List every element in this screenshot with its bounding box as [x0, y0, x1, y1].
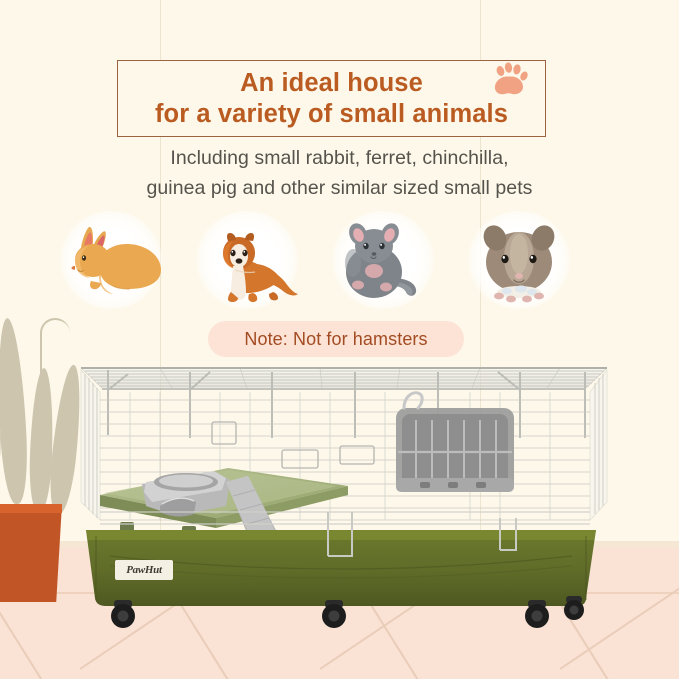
- brand-label: PawHut: [115, 560, 173, 580]
- wire-top-cage: [81, 368, 607, 389]
- animal-guinea-pig: [459, 208, 579, 312]
- cage-left-wall: [81, 370, 100, 520]
- animal-icon-row: [0, 208, 679, 312]
- hay-rack-hideout: [396, 393, 514, 492]
- guinea-pig-icon: [459, 208, 579, 312]
- chinchilla-icon: [323, 208, 443, 312]
- caster-wheel: [322, 600, 346, 628]
- subtitle-line-1: Including small rabbit, ferret, chinchil…: [0, 144, 679, 174]
- animal-rabbit: [51, 208, 171, 312]
- cage-door-latch: [212, 422, 374, 468]
- brand-name: PawHut: [126, 564, 162, 576]
- cage-right-wall: [590, 370, 607, 520]
- ferret-icon: [187, 208, 307, 312]
- product-marketing-image: An ideal house for a variety of small an…: [0, 0, 679, 679]
- subtitle: Including small rabbit, ferret, chinchil…: [0, 144, 679, 203]
- caster-wheel: [111, 600, 135, 628]
- note-badge: Note: Not for hamsters: [208, 321, 464, 357]
- animal-chinchilla: [323, 208, 443, 312]
- caster-wheel: [525, 600, 549, 628]
- subtitle-line-2: guinea pig and other similar sized small…: [0, 174, 679, 204]
- paw-print-icon: [489, 62, 531, 100]
- product-cage: [0, 360, 679, 650]
- caster-wheel: [564, 596, 584, 620]
- headline-card: [117, 60, 546, 137]
- note-text: Note: Not for hamsters: [244, 329, 427, 350]
- animal-ferret: [187, 208, 307, 312]
- rabbit-icon: [51, 208, 171, 312]
